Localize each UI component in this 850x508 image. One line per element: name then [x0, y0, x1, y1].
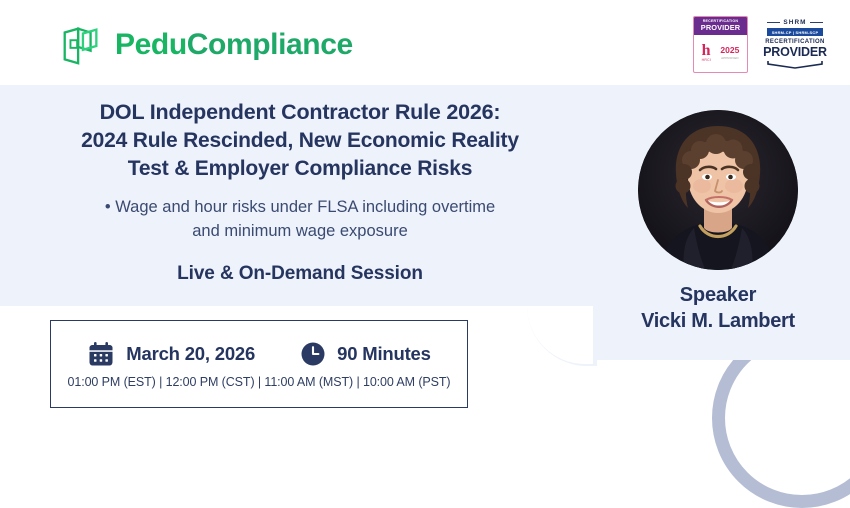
- peducompliance-logo-icon: [58, 22, 104, 68]
- shrm-title-row: SHRM: [756, 19, 834, 26]
- schedule-date-item: March 20, 2026: [87, 340, 255, 368]
- hrci-badge-body: h HRCI 2025 APPROVED: [694, 35, 747, 72]
- shrm-badge: SHRM SHRM-CP | SHRM-SCP RECERTIFICATION …: [756, 16, 834, 73]
- accreditation-badges: RECERTIFICATION PROVIDER h HRCI 2025 APP…: [693, 16, 834, 73]
- schedule-duration: 90 Minutes: [337, 343, 431, 365]
- hrci-badge: RECERTIFICATION PROVIDER h HRCI 2025 APP…: [693, 16, 748, 73]
- hrci-provider-label: PROVIDER: [694, 24, 747, 32]
- speaker-role-label: Speaker: [598, 284, 838, 307]
- schedule-date: March 20, 2026: [126, 343, 255, 365]
- bullet-text-1: Wage and hour risks under FLSA including…: [115, 198, 495, 216]
- schedule-primary-row: March 20, 2026 90 Minutes: [87, 340, 430, 368]
- shrm-provider-label: PROVIDER: [763, 46, 827, 59]
- shrm-ribbon-icon: [767, 60, 823, 69]
- shrm-org-label: SHRM: [783, 19, 806, 26]
- calendar-icon: [87, 340, 115, 368]
- speaker-portrait: [638, 110, 798, 270]
- hrci-letter: h: [702, 44, 712, 58]
- speaker-name: Vicki M. Lambert: [598, 310, 838, 333]
- panel-notch-cut: [527, 306, 593, 364]
- bullet-line-2: and minimum wage exposure: [0, 220, 600, 243]
- bullet-line-1: • Wage and hour risks under FLSA includi…: [0, 196, 600, 219]
- banner-header: PeduCompliance RECERTIFICATION PROVIDER …: [0, 0, 850, 85]
- hrci-sub-label: APPROVED: [720, 56, 739, 60]
- speaker-section: Speaker Vicki M. Lambert: [598, 110, 838, 333]
- bullet-marker-icon: •: [105, 198, 111, 216]
- main-content: DOL Independent Contractor Rule 2026: 20…: [0, 85, 600, 285]
- title-line-3: Test & Employer Compliance Risks: [0, 155, 600, 183]
- hrci-year-block: 2025 APPROVED: [720, 46, 739, 60]
- shrm-rule-left: [767, 22, 780, 23]
- webinar-bullet: • Wage and hour risks under FLSA includi…: [0, 196, 600, 243]
- webinar-banner: PeduCompliance RECERTIFICATION PROVIDER …: [0, 0, 850, 450]
- schedule-box: March 20, 2026 90 Minutes 01:00 PM (EST)…: [50, 320, 468, 408]
- schedule-duration-item: 90 Minutes: [300, 341, 431, 367]
- title-line-2: 2024 Rule Rescinded, New Economic Realit…: [0, 127, 600, 155]
- webinar-title: DOL Independent Contractor Rule 2026: 20…: [0, 85, 600, 182]
- hrci-logo: h HRCI: [702, 44, 712, 62]
- title-line-1: DOL Independent Contractor Rule 2026:: [0, 98, 600, 127]
- brand-logo[interactable]: PeduCompliance: [58, 22, 353, 68]
- avatar: [638, 110, 798, 270]
- brand-name-part2: Compliance: [187, 28, 353, 61]
- hrci-badge-header: RECERTIFICATION PROVIDER: [694, 17, 747, 35]
- hrci-org-label: HRCI: [702, 58, 712, 62]
- schedule-timezones: 01:00 PM (EST) | 12:00 PM (CST) | 11:00 …: [68, 375, 451, 389]
- clock-icon: [300, 341, 326, 367]
- shrm-rule-right: [810, 22, 823, 23]
- brand-name-part1: Pedu: [115, 28, 187, 61]
- shrm-credentials: SHRM-CP | SHRM-SCP: [767, 28, 824, 36]
- session-type-label: Live & On-Demand Session: [0, 263, 600, 285]
- hrci-year: 2025: [720, 46, 739, 55]
- brand-name: PeduCompliance: [115, 30, 353, 60]
